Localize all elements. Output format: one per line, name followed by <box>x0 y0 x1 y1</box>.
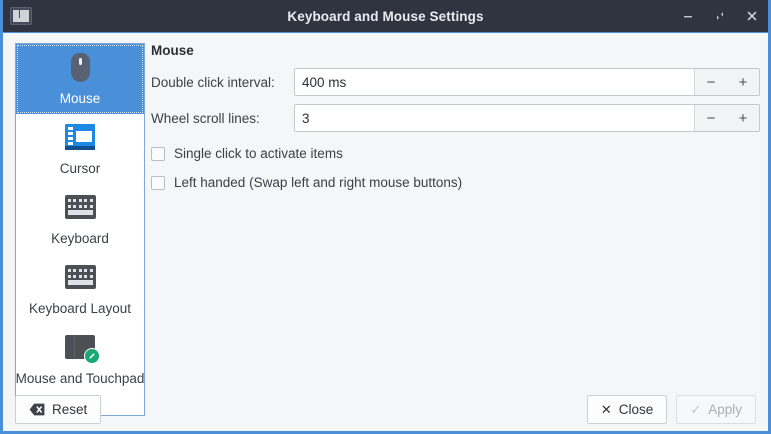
sidebar-item-mouse-and-touchpad[interactable]: Mouse and Touchpad <box>16 324 144 394</box>
keyboard-icon <box>10 7 32 25</box>
keyboard-layout-icon <box>63 260 97 294</box>
left-handed-checkbox-label: Left handed (Swap left and right mouse b… <box>174 175 462 190</box>
double-click-interval-decrement[interactable]: − <box>695 69 727 95</box>
wheel-scroll-lines-row: Wheel scroll lines: 3 − + <box>151 104 760 132</box>
sidebar-item-mouse[interactable]: Mouse <box>16 44 144 114</box>
apply-button[interactable]: ✓ Apply <box>676 395 756 424</box>
keyboard-icon <box>63 190 97 224</box>
reset-button[interactable]: Reset <box>15 395 101 424</box>
sidebar-item-label: Cursor <box>60 160 101 177</box>
page-title: Mouse <box>151 43 760 58</box>
wheel-scroll-lines-label: Wheel scroll lines: <box>151 111 294 126</box>
cross-icon: ✕ <box>601 403 612 416</box>
mouse-icon <box>63 50 97 84</box>
sidebar-item-label: Keyboard Layout <box>29 300 131 317</box>
double-click-interval-row: Double click interval: 400 ms − + <box>151 68 760 96</box>
reset-button-label: Reset <box>52 402 87 417</box>
double-click-interval-stepper[interactable]: 400 ms − + <box>294 68 760 96</box>
wheel-scroll-lines-decrement[interactable]: − <box>695 105 727 131</box>
sidebar-item-label: Mouse and Touchpad <box>16 370 145 387</box>
dialog-button-bar: Reset ✕ Close ✓ Apply <box>3 386 768 432</box>
left-handed-checkbox[interactable] <box>151 176 165 190</box>
window-title: Keyboard and Mouse Settings <box>3 9 768 24</box>
check-icon: ✓ <box>690 403 701 416</box>
touchpad-icon <box>63 330 97 364</box>
sidebar-item-label: Keyboard <box>51 230 109 247</box>
window-body: Mouse Cursor <box>3 33 768 432</box>
double-click-interval-label: Double click interval: <box>151 75 294 90</box>
maximize-icon[interactable] <box>712 8 728 24</box>
sidebar-item-keyboard[interactable]: Keyboard <box>16 184 144 254</box>
close-button-label: Close <box>619 402 654 417</box>
window-controls <box>680 0 760 32</box>
wheel-scroll-lines-value[interactable]: 3 <box>295 105 694 131</box>
single-click-checkbox-row[interactable]: Single click to activate items <box>151 146 760 161</box>
wheel-scroll-lines-increment[interactable]: + <box>727 105 759 131</box>
left-handed-checkbox-row[interactable]: Left handed (Swap left and right mouse b… <box>151 175 760 190</box>
single-click-checkbox[interactable] <box>151 147 165 161</box>
cursor-icon <box>63 120 97 154</box>
double-click-interval-increment[interactable]: + <box>727 69 759 95</box>
sidebar-item-keyboard-layout[interactable]: Keyboard Layout <box>16 254 144 324</box>
close-icon[interactable] <box>744 8 760 24</box>
double-click-interval-value[interactable]: 400 ms <box>295 69 694 95</box>
single-click-checkbox-label: Single click to activate items <box>174 146 343 161</box>
mouse-settings-panel: Mouse Double click interval: 400 ms − + … <box>151 43 760 190</box>
apply-button-label: Apply <box>708 402 742 417</box>
sidebar-item-label: Mouse <box>60 90 101 107</box>
close-button[interactable]: ✕ Close <box>587 395 667 424</box>
title-bar[interactable]: Keyboard and Mouse Settings <box>3 0 768 33</box>
minimize-icon[interactable] <box>680 8 696 24</box>
sidebar-item-cursor[interactable]: Cursor <box>16 114 144 184</box>
settings-category-list[interactable]: Mouse Cursor <box>15 43 145 416</box>
settings-window: Keyboard and Mouse Settings <box>0 0 771 434</box>
wheel-scroll-lines-stepper[interactable]: 3 − + <box>294 104 760 132</box>
undo-icon <box>29 403 45 416</box>
